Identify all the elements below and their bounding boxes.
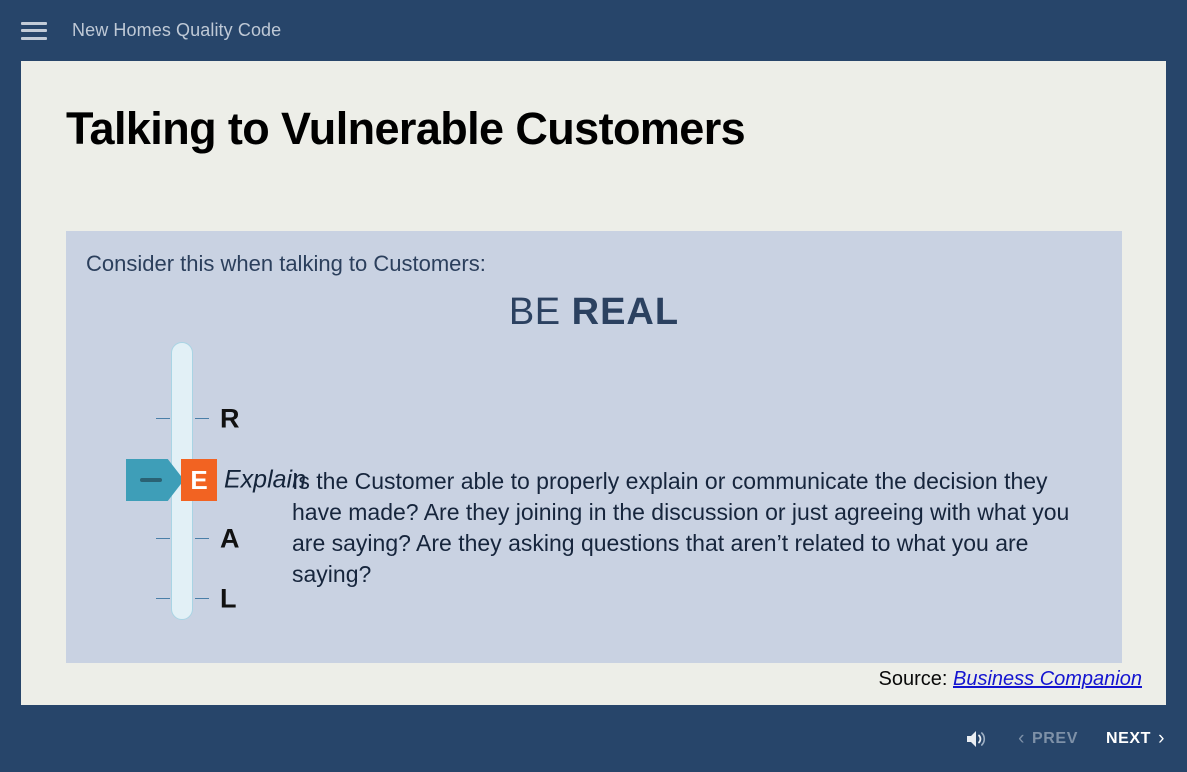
chevron-right-icon: › — [1158, 729, 1165, 748]
slider-rung-L[interactable]: L — [220, 586, 237, 613]
slider-rung-R[interactable]: R — [220, 406, 240, 433]
acronym-prefix: BE — [509, 291, 572, 333]
slider-rung-A[interactable]: A — [220, 526, 240, 553]
hamburger-bar — [21, 29, 47, 32]
acronym-word: REAL — [572, 291, 679, 333]
slider-tick-right — [195, 598, 209, 599]
page-title: Talking to Vulnerable Customers — [66, 106, 745, 151]
source-label: Source: — [879, 668, 948, 690]
speaker-volume-icon[interactable] — [964, 728, 990, 750]
source-attribution: Source: Business Companion — [879, 668, 1143, 691]
slider-tick-right — [195, 418, 209, 419]
next-button[interactable]: NEXT › — [1106, 729, 1165, 748]
hamburger-bar — [21, 22, 47, 25]
hamburger-bar — [21, 37, 47, 40]
prev-button[interactable]: ‹ PREV — [1018, 729, 1078, 748]
panel-lead-text: Consider this when talking to Customers: — [86, 251, 486, 277]
slider-tick-left — [156, 538, 170, 539]
slider-tick-left — [156, 598, 170, 599]
content-panel: Consider this when talking to Customers:… — [66, 231, 1122, 663]
app-header: New Homes Quality Code — [0, 0, 1187, 61]
slider-tick-left — [156, 418, 170, 419]
hamburger-menu-icon[interactable] — [21, 22, 47, 40]
real-slider[interactable]: R E Explain A L — [121, 339, 321, 639]
slider-tick-right — [195, 538, 209, 539]
source-link[interactable]: Business Companion — [953, 668, 1142, 690]
next-button-label: NEXT — [1106, 730, 1151, 748]
chevron-left-icon: ‹ — [1018, 729, 1025, 748]
acronym-heading: BE REAL — [66, 293, 1122, 331]
slide-card: Talking to Vulnerable Customers Consider… — [21, 61, 1166, 705]
course-title: New Homes Quality Code — [72, 20, 281, 41]
rung-description-text: Is the Customer able to properly explain… — [292, 466, 1102, 590]
slider-rung-E-badge[interactable]: E — [181, 459, 217, 501]
slide-navigation-bar: ‹ PREV NEXT › — [0, 705, 1187, 772]
prev-button-label: PREV — [1032, 730, 1078, 748]
slider-thumb-grip-icon — [140, 478, 162, 482]
